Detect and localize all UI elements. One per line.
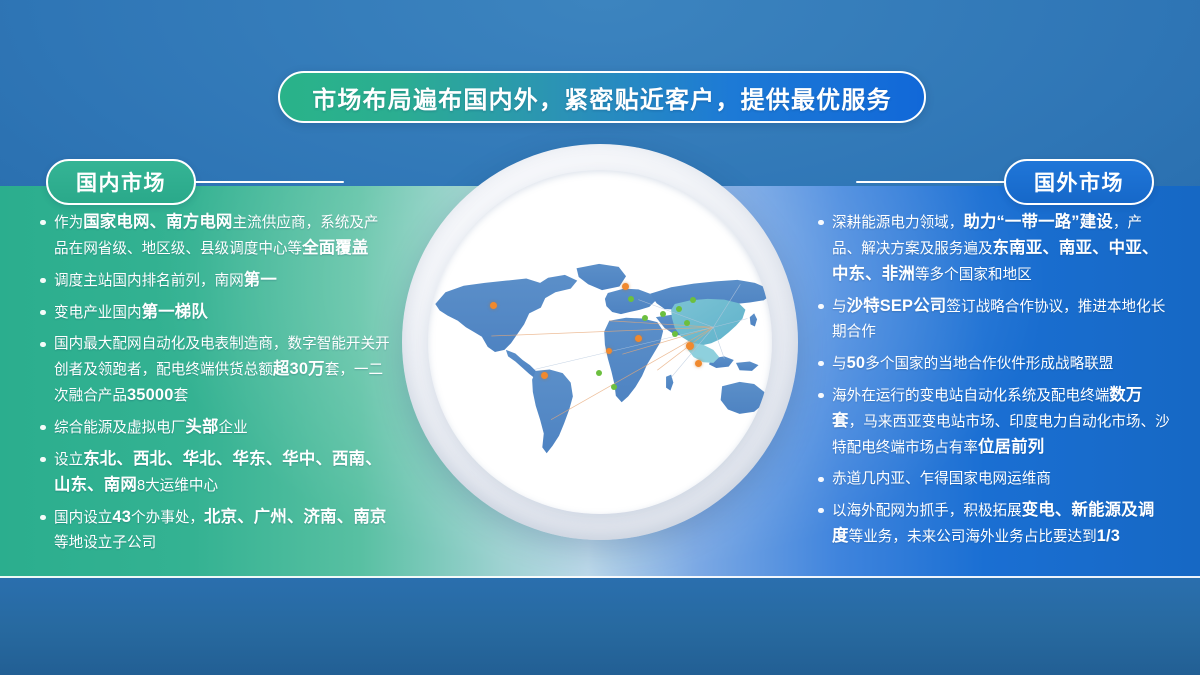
overseas-market-label: 国外市场	[1034, 167, 1124, 197]
marker-orange	[695, 360, 702, 367]
route-lines	[491, 321, 713, 420]
body-text: 与	[832, 299, 847, 315]
marker-green	[596, 370, 602, 376]
emphasis-text: 第一	[244, 271, 277, 289]
section-header-overseas: 国外市场	[856, 159, 1154, 205]
slide-title-banner: 市场布局遍布国内外，紧密贴近客户，提供最优服务	[278, 71, 926, 123]
list-item: 设立东北、西北、华北、华东、华中、西南、山东、南网8大运维中心	[40, 447, 390, 499]
marker-orange	[606, 348, 612, 354]
body-text: 赤道几内亚、乍得国家电网运维商	[832, 471, 1051, 487]
header-rule	[856, 181, 1006, 184]
overseas-bullet-list: 深耕能源电力领域，助力“一带一路”建设，产品、解决方案及服务遍及东南亚、南亚、中…	[818, 210, 1170, 556]
domestic-market-label: 国内市场	[76, 167, 166, 197]
header-rule	[194, 181, 344, 184]
list-item: 海外在运行的变电站自动化系统及配电终端数万套，马来西亚变电站市场、印度电力自动化…	[818, 383, 1170, 461]
emphasis-text: 头部	[185, 418, 218, 436]
body-text: 综合能源及虚拟电厂	[54, 420, 185, 436]
list-item: 国内最大配网自动化及电表制造商，数字智能开关开创者及领跑者，配电终端供货总额超3…	[40, 332, 390, 409]
marker-orange	[490, 302, 497, 309]
page-title: 市场布局遍布国内外，紧密贴近客户，提供最优服务	[312, 80, 892, 115]
world-map-svg	[428, 194, 772, 494]
domestic-market-pill[interactable]: 国内市场	[46, 159, 196, 205]
list-item: 综合能源及虚拟电厂头部企业	[40, 415, 390, 441]
overseas-market-pill[interactable]: 国外市场	[1004, 159, 1154, 205]
globe-inner-disc	[428, 170, 772, 514]
list-item: 调度主站国内排名前列，南网第一	[40, 268, 390, 294]
body-text: 等业务，未来公司海外业务占比要达到	[849, 529, 1097, 545]
emphasis-text: 沙特SEP公司	[847, 297, 947, 315]
domestic-bullet-list: 作为国家电网、南方电网主流供应商，系统及产品在网省级、地区级、县级调度中心等全面…	[40, 210, 390, 562]
globe-graphic	[402, 144, 798, 540]
body-text: 个办事处，	[131, 510, 204, 526]
list-item: 与50多个国家的当地合作伙件形成战略联盟	[818, 351, 1170, 377]
emphasis-text: 位居前列	[978, 438, 1044, 456]
body-text: 海外在运行的变电站自动化系统及配电终端	[832, 388, 1109, 404]
emphasis-text: 1/3	[1097, 527, 1120, 545]
slide-background: 市场布局遍布国内外，紧密贴近客户，提供最优服务	[0, 0, 1200, 675]
marker-green	[628, 296, 634, 302]
marker-green	[676, 306, 682, 312]
marker-orange	[635, 335, 642, 342]
marker-green	[642, 315, 648, 321]
body-text: 国内设立	[54, 510, 112, 526]
marker-green	[660, 311, 666, 317]
body-text: 调度主站国内排名前列，南网	[54, 273, 244, 289]
list-item: 以海外配网为抓手，积极拓展变电、新能源及调度等业务，未来公司海外业务占比要达到1…	[818, 498, 1170, 550]
list-item: 变电产业国内第一梯队	[40, 300, 390, 326]
emphasis-text: 助力“一带一路”建设	[963, 213, 1113, 231]
body-text: 等多个国家和地区	[915, 267, 1032, 283]
marker-green	[684, 320, 690, 326]
body-text: 深耕能源电力领域，	[832, 215, 963, 231]
marker-green	[690, 297, 696, 303]
marker-orange	[686, 342, 694, 350]
emphasis-text: 第一梯队	[142, 303, 208, 321]
body-text: 企业	[219, 420, 248, 436]
body-text: 多个国家的当地合作伙件形成战略联盟	[865, 356, 1113, 372]
emphasis-text: 50	[847, 354, 866, 372]
marker-orange	[622, 283, 629, 290]
body-text: 等地设立子公司	[54, 535, 156, 551]
marker-green	[672, 331, 678, 337]
body-text: 套	[174, 388, 189, 404]
body-text: 设立	[54, 452, 83, 468]
marker-green	[611, 384, 617, 390]
emphasis-text: 35000	[127, 386, 174, 404]
emphasis-text: 全面覆盖	[302, 239, 368, 257]
body-text: 以海外配网为抓手，积极拓展	[832, 503, 1022, 519]
body-text: 作为	[54, 215, 83, 231]
list-item: 与沙特SEP公司签订战略合作协议，推进本地化长期合作	[818, 294, 1170, 345]
body-text: 8大运维中心	[137, 478, 218, 494]
list-item: 赤道几内亚、乍得国家电网运维商	[818, 467, 1170, 492]
emphasis-text: 国家电网、南方电网	[83, 213, 232, 231]
emphasis-text: 超30万	[273, 360, 325, 378]
section-header-domestic: 国内市场	[46, 159, 344, 205]
list-item: 国内设立43个办事处，北京、广州、济南、南京等地设立子公司	[40, 505, 390, 556]
emphasis-text: 43	[112, 508, 131, 526]
marker-orange	[541, 372, 548, 379]
body-text: 与	[832, 356, 847, 372]
emphasis-text: 北京、广州、济南、南京	[204, 508, 387, 526]
continents	[435, 264, 772, 453]
list-item: 深耕能源电力领域，助力“一带一路”建设，产品、解决方案及服务遍及东南亚、南亚、中…	[818, 210, 1170, 288]
list-item: 作为国家电网、南方电网主流供应商，系统及产品在网省级、地区级、县级调度中心等全面…	[40, 210, 390, 262]
body-text: 变电产业国内	[54, 305, 142, 321]
